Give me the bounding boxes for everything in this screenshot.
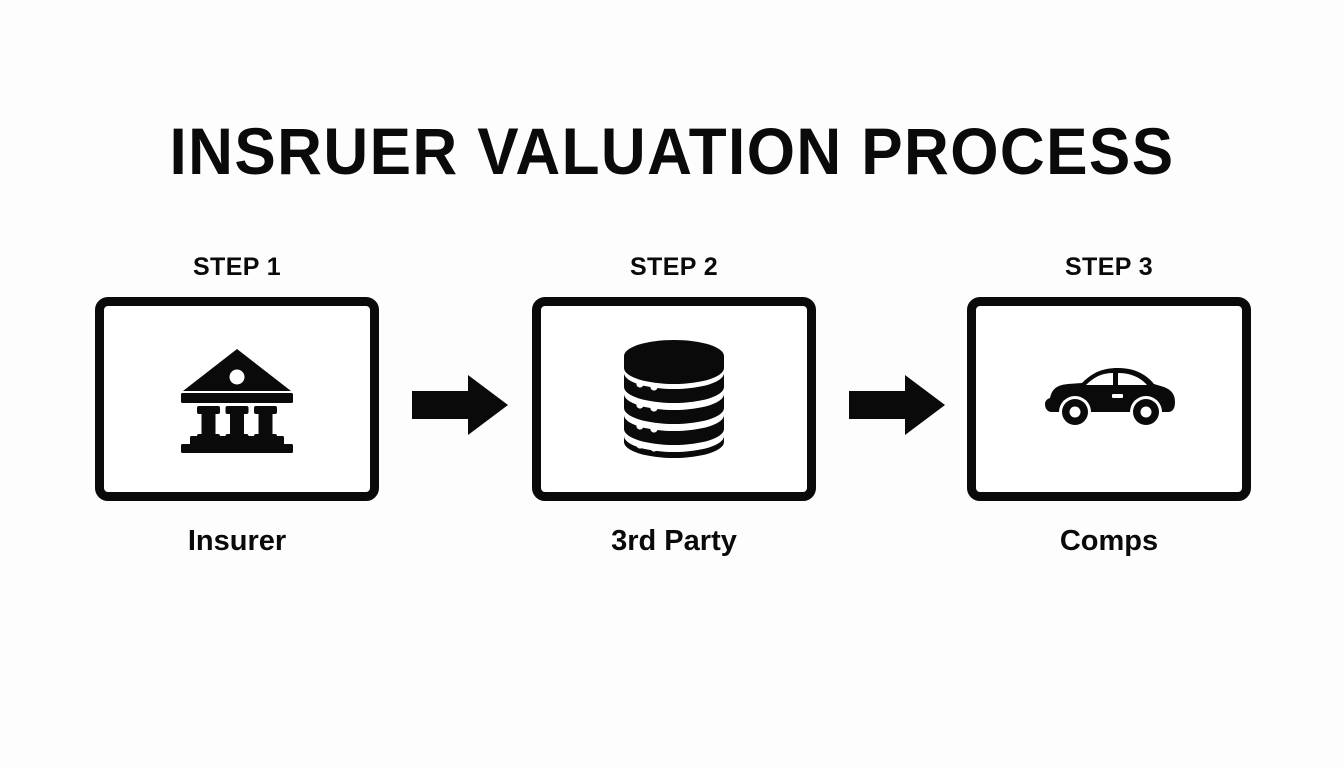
arrow-right-icon <box>412 374 508 436</box>
step-1-caption: Insurer <box>95 527 379 556</box>
flow-connector-1 <box>412 374 508 436</box>
step-3-caption: Comps <box>967 527 1251 556</box>
step-2-caption: 3rd Party <box>532 527 816 556</box>
page-title: INSRUER VALUATION PROCESS <box>40 118 1303 184</box>
process-step-2: STEP 2 <box>532 255 816 556</box>
process-flow: STEP 1 <box>0 255 1344 555</box>
step-3-eyebrow: STEP 3 <box>967 255 1251 280</box>
step-2-box[interactable] <box>532 297 816 501</box>
step-1-box[interactable] <box>95 297 379 501</box>
car-icon <box>1042 362 1176 436</box>
step-2-eyebrow: STEP 2 <box>532 255 816 280</box>
process-step-3: STEP 3 <box>967 255 1251 556</box>
flow-connector-2 <box>849 374 945 436</box>
process-step-1: STEP 1 <box>95 255 379 556</box>
arrow-right-icon <box>849 374 945 436</box>
database-icon <box>622 340 726 458</box>
step-3-box[interactable] <box>967 297 1251 501</box>
step-1-eyebrow: STEP 1 <box>95 255 379 280</box>
bank-icon <box>179 343 295 455</box>
